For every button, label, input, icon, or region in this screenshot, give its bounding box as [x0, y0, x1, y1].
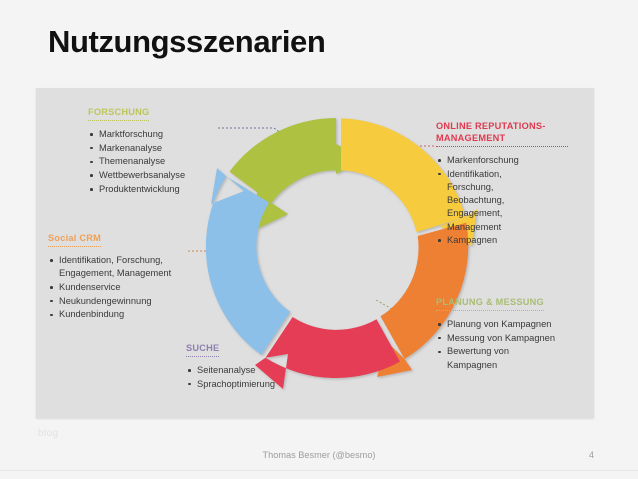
list-item: Kampagnen [436, 234, 586, 247]
callout-orm-list: Markenforschung Identifikation, Forschun… [436, 154, 586, 247]
callout-orm-heading: ONLINE REPUTATIONS-MANAGEMENT [436, 120, 568, 147]
list-item: Bewertung von Kampagnen [436, 345, 596, 371]
list-item: Kundenbindung [48, 308, 238, 321]
page-title: Nutzungsszenarien [48, 24, 325, 60]
list-item: Markenforschung [436, 154, 586, 167]
list-item: Markenanalyse [88, 142, 268, 155]
callout-suche-heading: SUCHE [186, 342, 219, 357]
list-item: Identifikation, Forschung, Beobachtung, … [436, 168, 586, 234]
list-item: Planung von Kampagnen [436, 318, 596, 331]
list-item: Messung von Kampagnen [436, 332, 596, 345]
list-item: Marktforschung [88, 128, 268, 141]
wheel-center-hole [276, 191, 396, 311]
diagram-panel: FORSCHUNG Marktforschung Markenanalyse T… [36, 88, 594, 418]
list-item: Neukundengewinnung [48, 295, 238, 308]
callout-planung-heading: PLANUNG & MESSUNG [436, 296, 544, 311]
page-number: 4 [589, 450, 594, 460]
list-item: Produktentwicklung [88, 183, 268, 196]
callout-online-reputations-management: ONLINE REPUTATIONS-MANAGEMENT Markenfors… [436, 120, 586, 248]
callout-social-crm-list: Identifikation, Forschung, Engagement, M… [48, 254, 238, 322]
callout-social-crm: Social CRM Identifikation, Forschung, En… [48, 228, 238, 322]
presenter-credit: Thomas Besmer (@besmo) [0, 450, 638, 460]
callout-planung-messung: PLANUNG & MESSUNG Planung von Kampagnen … [436, 292, 596, 372]
callout-suche-list: Seitenanalyse Sprachoptimierung [186, 364, 346, 391]
callout-forschung-list: Marktforschung Markenanalyse Themenanaly… [88, 128, 268, 196]
list-item: Sprachoptimierung [186, 378, 346, 391]
callout-forschung-heading: FORSCHUNG [88, 106, 149, 121]
callout-social-crm-heading: Social CRM [48, 232, 101, 247]
blog-watermark: blog [38, 428, 59, 439]
callout-planung-list: Planung von Kampagnen Messung von Kampag… [436, 318, 596, 372]
callout-forschung: FORSCHUNG Marktforschung Markenanalyse T… [88, 102, 268, 197]
list-item: Wettbewerbsanalyse [88, 169, 268, 182]
list-item: Kundenservice [48, 281, 238, 294]
list-item: Themenanalyse [88, 155, 268, 168]
list-item: Seitenanalyse [186, 364, 346, 377]
footer-divider [0, 470, 638, 471]
callout-suche: SUCHE Seitenanalyse Sprachoptimierung [186, 338, 346, 391]
list-item: Identifikation, Forschung, Engagement, M… [48, 254, 238, 280]
